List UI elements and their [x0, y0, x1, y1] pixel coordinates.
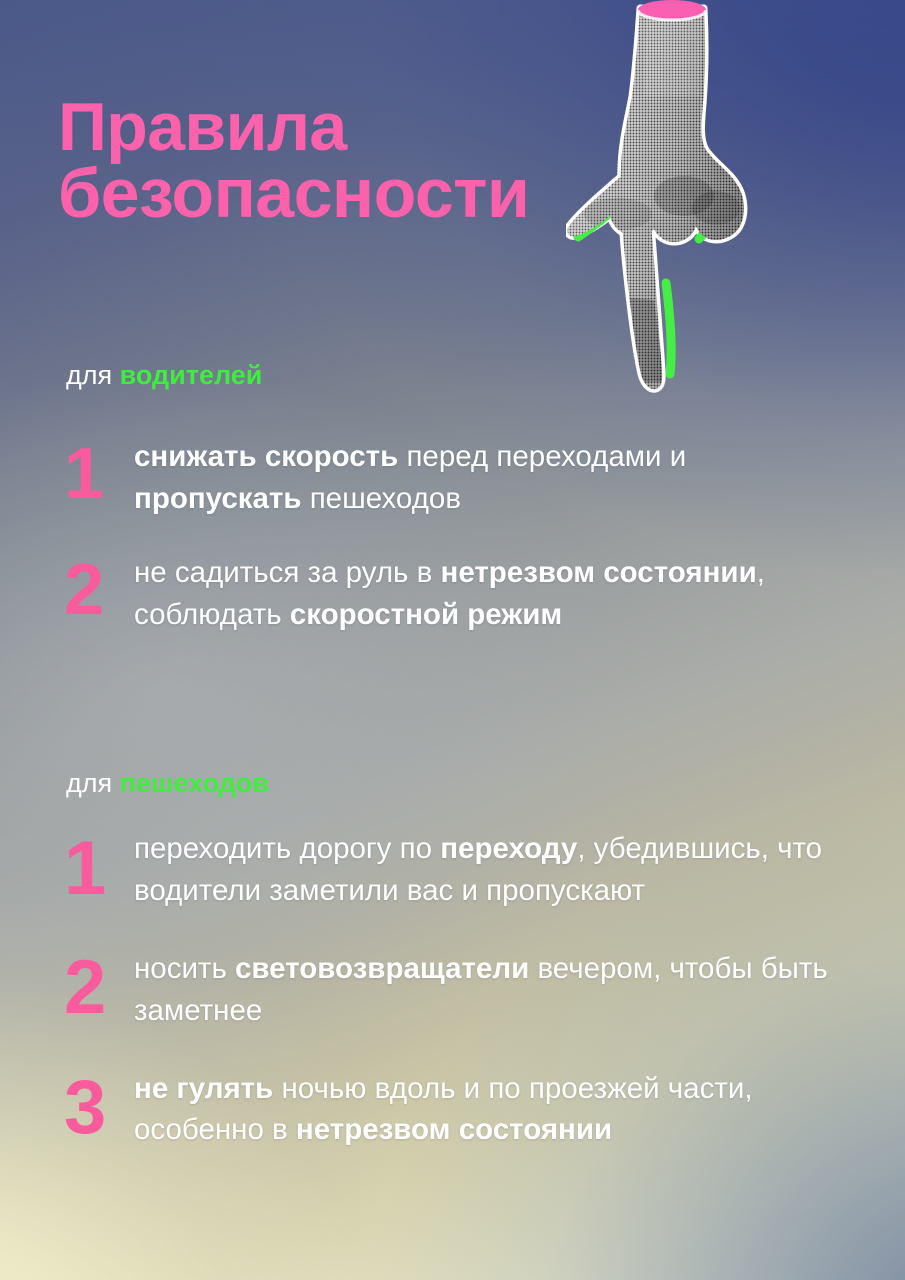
rule-text: не садиться за руль в нетрезвом состояни…	[134, 546, 858, 636]
hand-cuff	[638, 0, 706, 20]
rule-number: 2	[58, 954, 134, 1022]
rule-list-pedestrians: 1 переходить дорогу по переходу, убедивш…	[58, 826, 858, 1185]
section-heading-drivers: для водителей	[66, 362, 262, 389]
pointing-down-hand-icon	[566, 0, 796, 395]
section-heading-drivers-accent: водителей	[120, 360, 263, 390]
hand-halftone-body	[566, 0, 796, 395]
rule-number: 1	[58, 442, 134, 507]
rule-item: 2 не садиться за руль в нетрезвом состоя…	[58, 546, 858, 636]
rule-text: носить световозвращатели вечером, чтобы …	[134, 946, 858, 1032]
rule-number: 2	[58, 558, 134, 623]
rule-item: 2 носить световозвращатели вечером, чтоб…	[58, 946, 858, 1032]
safety-rules-poster: Правила безопасности	[0, 0, 905, 1280]
rule-number: 1	[58, 835, 134, 903]
rule-text: не гулять ночью вдоль и по проезжей част…	[134, 1066, 858, 1152]
section-heading-pedestrians-accent: пешеходов	[120, 768, 269, 798]
page-title-line-2: безопасности	[58, 161, 529, 225]
rule-list-drivers: 1 снижать скорость перед переходами и пр…	[58, 430, 858, 662]
page-title: Правила безопасности	[58, 96, 529, 225]
rule-item: 1 снижать скорость перед переходами и пр…	[58, 430, 858, 520]
section-heading-pedestrians-prefix: для	[66, 768, 120, 798]
rule-item: 3 не гулять ночью вдоль и по проезжей ча…	[58, 1066, 858, 1152]
rule-text: переходить дорогу по переходу, убедившис…	[134, 826, 858, 912]
rule-item: 1 переходить дорогу по переходу, убедивш…	[58, 826, 858, 912]
rule-text: снижать скорость перед переходами и проп…	[134, 430, 858, 520]
page-title-line-1: Правила	[58, 96, 529, 159]
section-heading-pedestrians: для пешеходов	[66, 770, 269, 797]
rule-number: 3	[58, 1074, 134, 1142]
section-heading-drivers-prefix: для	[66, 360, 120, 390]
